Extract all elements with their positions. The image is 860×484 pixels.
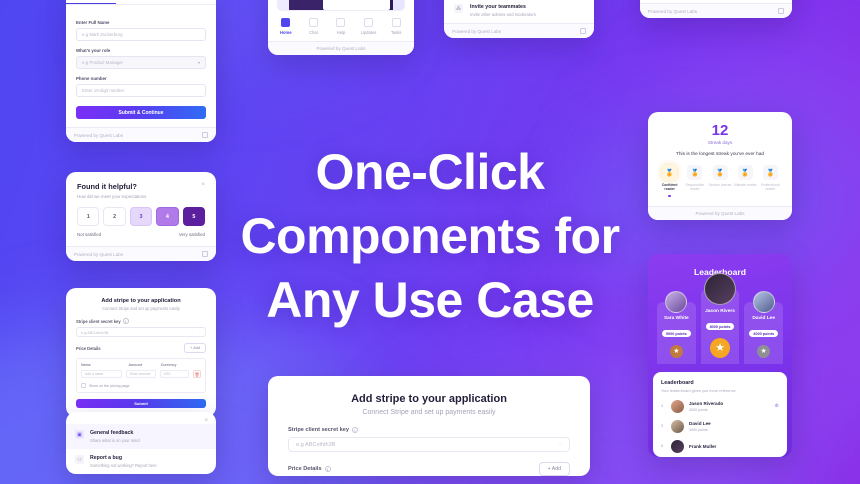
checkbox-label: Show on the pricing page <box>89 384 130 388</box>
qr-icon <box>778 8 784 14</box>
stripe-setup-card-large: Add stripe to your application Connect S… <box>268 376 590 476</box>
row-name: Jason Riverado <box>689 401 770 406</box>
avatar <box>671 400 684 413</box>
price-table: Name Amount Currency Add a name Enter am… <box>76 358 206 393</box>
add-price-button[interactable]: + Add <box>184 343 206 353</box>
nav-item-home[interactable]: Home <box>272 18 300 35</box>
app-mockup <box>289 0 393 10</box>
leaderboard-list-title: Leaderboard <box>661 380 779 386</box>
row-points: 3900 points <box>689 428 779 432</box>
powered-by-label: Powered by Quest Labs <box>316 46 365 51</box>
card-footer: Powered by Quest Labs <box>444 23 594 38</box>
price-details-row: Price Details i + Add <box>288 462 570 476</box>
nav-label: Updates <box>355 30 383 35</box>
tab-company[interactable]: Company <box>116 0 166 4</box>
actions-menu-card: ▤ Report Dashboard See you'll be able to… <box>444 0 594 38</box>
nav-label: Chat <box>300 30 328 35</box>
info-icon: i <box>352 427 358 433</box>
card-footer: Powered by Quest Labs <box>640 3 792 18</box>
phone-input[interactable]: Enter 10-digit number <box>76 84 206 97</box>
headline-line-1: One-Click <box>0 140 860 204</box>
medal-icon: ★ <box>710 338 730 358</box>
bug-icon: ⚇ <box>75 455 84 464</box>
medal-icon: ★ <box>670 345 683 358</box>
qr-icon <box>202 132 208 138</box>
price-table-header: Name Amount Currency <box>81 363 201 367</box>
hero-banner: One-Click Components for Any Use Case Pe… <box>0 0 860 484</box>
role-select-value: e.g Product Manager <box>82 60 123 65</box>
avatar <box>671 440 684 453</box>
nav-label: Tasks <box>382 30 410 35</box>
headline-line-3: Any Use Case <box>0 268 860 332</box>
qr-icon <box>580 28 586 34</box>
stripe-secret-label-text: Stripe client secret key <box>288 427 349 433</box>
col-amount: Amount <box>128 363 156 367</box>
feedback-menu-card: × ▣ General feedback Share what is on yo… <box>66 412 216 474</box>
action-item-invite-teammates[interactable]: ⁂ Invite your teammates Invite other adm… <box>444 0 594 23</box>
leaderboard-row[interactable]: 4 Jason Riverado 4000 points ♔ <box>661 400 779 413</box>
nav-label: Help <box>327 30 355 35</box>
powered-by-label: Powered by Quest Labs <box>74 133 123 138</box>
row-rank: 5 <box>661 424 666 428</box>
nav-item-chat[interactable]: Chat <box>300 18 328 35</box>
nav-item-help[interactable]: Help <box>327 18 355 35</box>
tab-personal[interactable]: Personal <box>66 0 116 4</box>
nav-item-updates[interactable]: Updates <box>355 18 383 35</box>
chat-icon <box>309 18 318 27</box>
submit-continue-button[interactable]: Submit & Continue <box>76 106 206 119</box>
headline-line-2: Components for <box>0 204 860 268</box>
action-desc: Invite other admins and moderators <box>470 12 536 17</box>
updates-icon <box>364 18 373 27</box>
col-name: Name <box>81 363 124 367</box>
cell-name[interactable]: Add a name <box>81 370 122 378</box>
row-name: Frank Muller <box>689 444 779 449</box>
tab-preferences[interactable]: Preferences <box>166 0 216 4</box>
price-details-label: Price Details i <box>288 466 331 472</box>
full-name-input[interactable]: e.g Mark Zuckerburg <box>76 28 206 41</box>
cell-currency[interactable]: USD <box>160 370 189 378</box>
tasks-icon <box>392 18 401 27</box>
info-icon: i <box>325 466 331 472</box>
medal-icon: ★ <box>757 345 770 358</box>
price-details-label-text: Price Details <box>288 466 322 472</box>
nav-item-tasks[interactable]: Tasks <box>382 18 410 35</box>
people-icon: ⁂ <box>454 4 463 13</box>
phone-label: Phone number <box>76 76 206 81</box>
cell-amount[interactable]: Enter amount <box>126 370 155 378</box>
streak-count: 12 <box>657 122 783 139</box>
stripe-subtitle: Connect Stripe and set up payments easil… <box>288 409 570 416</box>
checkbox-icon <box>81 383 86 388</box>
stripe-secret-input[interactable]: e.g ABCxthth3B ◌ <box>288 437 570 452</box>
chevron-down-icon: ▾ <box>198 60 200 65</box>
row-rank: 4 <box>661 404 666 408</box>
eye-icon[interactable]: ◌ <box>559 442 562 448</box>
help-icon <box>336 18 345 27</box>
feedback-item-bug[interactable]: ⚇ Report a bug Something not working? Re… <box>66 449 216 474</box>
chat-preview-card[interactable] <box>277 0 405 11</box>
stripe-secret-label: Stripe client secret key i <box>288 427 570 433</box>
help-menu-card: ⚇ Report a bug Something not working? Re… <box>640 0 792 18</box>
add-price-button[interactable]: + Add <box>539 462 570 476</box>
stripe-secret-placeholder: e.g ABCxthth3B <box>296 442 336 448</box>
feedback-item-desc: Share what is on your mind <box>90 438 140 443</box>
close-icon[interactable]: × <box>66 412 216 424</box>
row-points: 4000 points <box>689 408 770 412</box>
col-currency: Currency <box>161 363 189 367</box>
row-rank: 6 <box>661 444 666 448</box>
bottom-nav: Home Chat Help Updates Tasks <box>268 11 414 41</box>
price-table-row: Add a name Enter amount USD 🗑 <box>81 370 201 378</box>
home-icon <box>281 18 290 27</box>
role-select[interactable]: e.g Product Manager ▾ <box>76 56 206 69</box>
stripe-submit-button[interactable]: Submit <box>76 399 206 408</box>
action-title: Invite your teammates <box>470 4 536 10</box>
price-details-label: Price Details <box>76 346 101 351</box>
feedback-item-general[interactable]: ▣ General feedback Share what is on your… <box>66 424 216 449</box>
leaderboard-row[interactable]: 6 Frank Muller <box>661 440 779 453</box>
hero-headline: One-Click Components for Any Use Case <box>0 140 860 332</box>
chat-widget-card: Currently replying under a min Message N… <box>268 0 414 55</box>
leaderboard-row[interactable]: 5 David Lee 3900 points <box>661 420 779 433</box>
stripe-title: Add stripe to your application <box>288 393 570 405</box>
role-label: What's your role <box>76 48 206 53</box>
show-on-pricing-checkbox[interactable]: Show on the pricing page <box>81 383 201 388</box>
price-details-row: Price Details + Add <box>76 343 206 353</box>
chat-preview-image <box>278 0 404 10</box>
powered-by-label: Powered by Quest Labs <box>648 9 697 14</box>
powered-by-label: Powered by Quest Labs <box>452 29 501 34</box>
leaderboard-list-subtitle: Your leaderboard gives you more referenc… <box>661 388 779 393</box>
feedback-item-desc: Something not working? Report here <box>90 463 157 468</box>
nav-label: Home <box>272 30 300 35</box>
full-name-label: Enter Full Name <box>76 20 206 25</box>
leaderboard-list: Leaderboard Your leaderboard gives you m… <box>653 372 787 457</box>
feedback-item-title: Report a bug <box>90 455 157 461</box>
message-icon: ▣ <box>75 430 84 439</box>
feedback-item-title: General feedback <box>90 430 140 436</box>
trophy-icon: ♔ <box>775 403 779 409</box>
avatar <box>671 420 684 433</box>
delete-row-icon[interactable]: 🗑 <box>193 370 201 378</box>
card-footer: Powered by Quest Labs <box>268 41 414 55</box>
row-name: David Lee <box>689 421 779 426</box>
onboarding-form-card: Personal Company Preferences Enter Full … <box>66 0 216 142</box>
